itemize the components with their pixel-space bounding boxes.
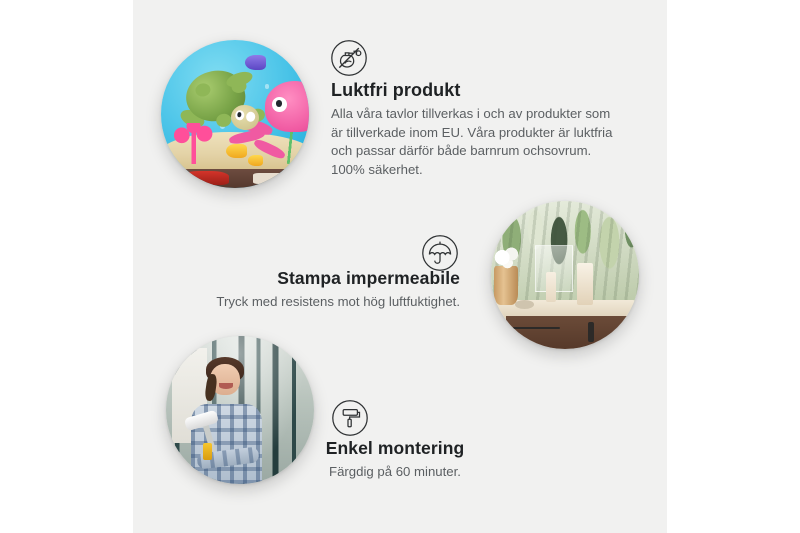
feature-block-easy-mounting: Enkel montering Färgdig på 60 minuter. bbox=[300, 438, 490, 482]
wooden-vanity bbox=[506, 316, 630, 349]
feature-description: Tryck med resistens mot hög luftfuktighe… bbox=[160, 293, 460, 312]
white-flowers bbox=[491, 245, 524, 272]
feature-description: Alla våra tavlor tillverkas i och av pro… bbox=[331, 105, 616, 180]
paint-roller-icon bbox=[331, 399, 369, 437]
feature-title: Enkel montering bbox=[300, 438, 490, 459]
octopus-eye bbox=[272, 97, 287, 112]
feature-title: Luktfri produkt bbox=[331, 80, 616, 101]
feature-block-odourless: Luktfri produkt Alla våra tavlor tillver… bbox=[331, 80, 616, 180]
purple-fish-icon bbox=[245, 55, 266, 70]
bathroom-botanical-circle bbox=[491, 201, 639, 349]
no-smell-spray-bottle-icon bbox=[330, 39, 368, 77]
yellow-fish-icon bbox=[226, 144, 247, 159]
umbrella-icon bbox=[421, 234, 459, 272]
turtle-eye bbox=[236, 112, 240, 118]
feature-block-waterproof: Stampa impermeabile Tryck med resistens … bbox=[160, 268, 460, 312]
coral-icon bbox=[174, 123, 212, 164]
feature-description: Färgdig på 60 minuter. bbox=[300, 463, 490, 482]
yellow-tool bbox=[203, 443, 212, 461]
feature-title: Stampa impermeabile bbox=[160, 268, 460, 289]
bubble-icon bbox=[265, 84, 269, 88]
underwater-artwork bbox=[161, 40, 309, 188]
bottle bbox=[546, 272, 556, 302]
screenshot-root: Luktfri produkt Alla våra tavlor tillver… bbox=[0, 0, 800, 533]
turtle-eye bbox=[248, 113, 252, 119]
bathroom-artwork bbox=[491, 201, 639, 349]
yellow-fish-icon bbox=[248, 155, 263, 165]
forest-mural-artwork bbox=[166, 336, 314, 484]
underwater-cartoon-circle bbox=[161, 40, 309, 188]
soap-dish bbox=[515, 300, 534, 309]
bottle bbox=[577, 263, 593, 304]
shipwreck-strip bbox=[161, 169, 309, 188]
octopus-icon bbox=[265, 81, 309, 131]
woman-paint-roller-circle bbox=[166, 336, 314, 484]
